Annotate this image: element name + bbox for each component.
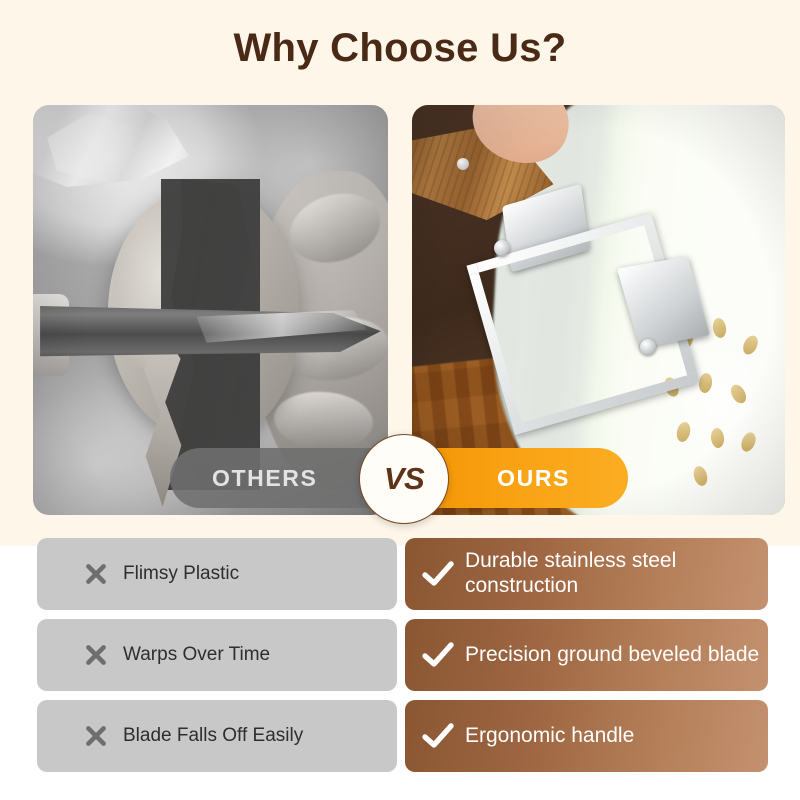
- cross-icon: [83, 723, 109, 749]
- vs-badge: VS: [359, 434, 449, 524]
- cross-icon: [83, 561, 109, 587]
- comparison-row: Blade Falls Off Easily Ergonomic handle: [0, 700, 800, 772]
- con-label: Flimsy Plastic: [123, 562, 239, 585]
- pro-cell: Durable stainless steel construction: [405, 538, 768, 610]
- pro-cell: Precision ground beveled blade: [405, 619, 768, 691]
- check-icon: [421, 640, 455, 670]
- check-icon: [421, 721, 455, 751]
- con-label: Blade Falls Off Easily: [123, 724, 303, 747]
- pro-label: Precision ground beveled blade: [465, 643, 767, 668]
- con-cell: Flimsy Plastic: [37, 538, 397, 610]
- vs-label: VS: [384, 461, 424, 497]
- comparison-row: Warps Over Time Precision ground beveled…: [0, 619, 800, 691]
- ours-label: OURS: [497, 465, 570, 492]
- pro-label: Ergonomic handle: [465, 724, 642, 749]
- cross-icon: [83, 642, 109, 668]
- comparison-rows: Flimsy Plastic Durable stainless steel c…: [0, 538, 800, 781]
- check-icon: [421, 559, 455, 589]
- con-cell: Blade Falls Off Easily: [37, 700, 397, 772]
- pro-label: Durable stainless steel construction: [465, 549, 768, 599]
- others-label: OTHERS: [212, 465, 317, 492]
- pro-cell: Ergonomic handle: [405, 700, 768, 772]
- con-label: Warps Over Time: [123, 643, 270, 666]
- page-title: Why Choose Us?: [0, 26, 800, 71]
- con-cell: Warps Over Time: [37, 619, 397, 691]
- product-comparison-infographic: Why Choose Us?: [0, 0, 800, 800]
- comparison-row: Flimsy Plastic Durable stainless steel c…: [0, 538, 800, 610]
